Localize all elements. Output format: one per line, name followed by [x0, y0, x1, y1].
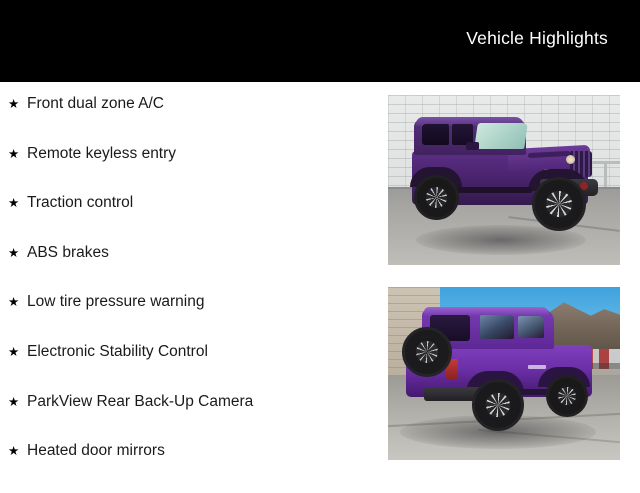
- star-bullet-icon: ★: [8, 396, 27, 409]
- spare-tire-rim: [414, 339, 440, 365]
- star-bullet-icon: ★: [8, 346, 27, 359]
- star-bullet-icon: ★: [8, 296, 27, 309]
- star-bullet-icon: ★: [8, 148, 27, 161]
- side-window-rear: [480, 315, 514, 339]
- list-item: ★ Heated door mirrors: [0, 443, 380, 493]
- body-badge: [528, 365, 546, 369]
- feature-label: Low tire pressure warning: [27, 294, 204, 310]
- side-mirror: [466, 142, 479, 150]
- star-bullet-icon: ★: [8, 197, 27, 210]
- feature-label: Electronic Stability Control: [27, 344, 208, 360]
- list-item: ★ Electronic Stability Control: [0, 344, 380, 394]
- feature-label: ParkView Rear Back-Up Camera: [27, 394, 253, 410]
- list-item: ★ Low tire pressure warning: [0, 294, 380, 344]
- vehicle-photo-rear: [388, 287, 620, 460]
- feature-label: Remote keyless entry: [27, 146, 176, 162]
- feature-label: ABS brakes: [27, 245, 109, 261]
- feature-list: ★ Front dual zone A/C ★ Remote keyless e…: [0, 82, 380, 480]
- slide-header: Vehicle Highlights: [0, 0, 640, 82]
- side-step: [450, 187, 532, 193]
- rear-rim: [424, 185, 449, 210]
- side-window-front: [518, 316, 544, 338]
- page-title: Vehicle Highlights: [466, 28, 608, 49]
- vehicle-photo-front: [388, 95, 620, 265]
- handrail-post: [604, 161, 607, 187]
- rear-rim: [484, 391, 512, 419]
- list-item: ★ Traction control: [0, 195, 380, 245]
- windshield: [474, 123, 528, 149]
- list-item: ★ Front dual zone A/C: [0, 96, 380, 146]
- star-bullet-icon: ★: [8, 445, 27, 458]
- feature-label: Traction control: [27, 195, 133, 211]
- front-rim: [556, 385, 578, 407]
- list-item: ★ Remote keyless entry: [0, 146, 380, 196]
- list-item: ★ ABS brakes: [0, 245, 380, 295]
- side-window-rear: [422, 124, 449, 145]
- star-bullet-icon: ★: [8, 98, 27, 111]
- star-bullet-icon: ★: [8, 247, 27, 260]
- front-rim: [544, 189, 574, 219]
- headlight: [566, 155, 575, 164]
- feature-label: Front dual zone A/C: [27, 96, 164, 112]
- vehicle-highlights-slide: Vehicle Highlights ★ Front dual zone A/C…: [0, 0, 640, 480]
- feature-label: Heated door mirrors: [27, 443, 165, 459]
- list-item: ★ ParkView Rear Back-Up Camera: [0, 394, 380, 444]
